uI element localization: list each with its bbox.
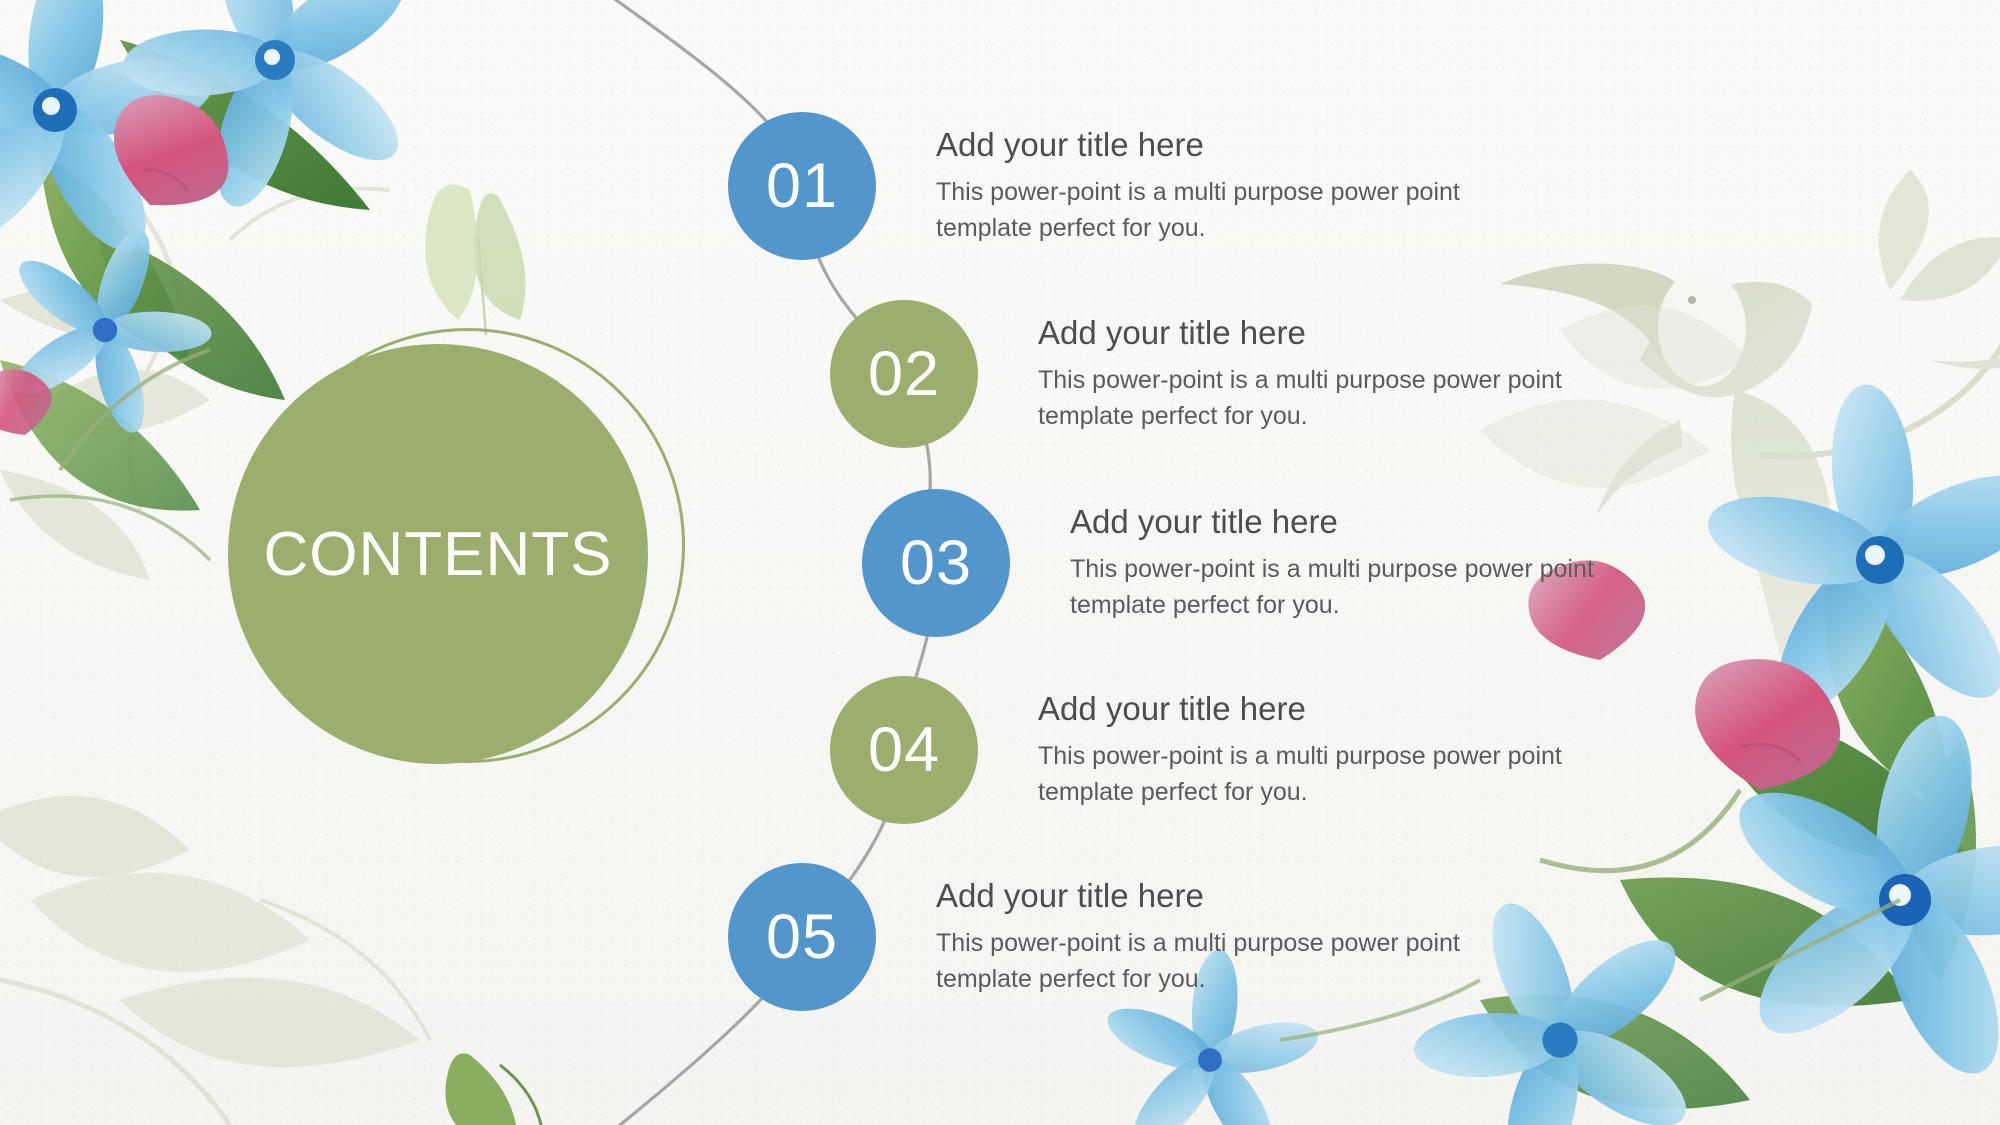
item-number-04: 04 — [868, 719, 940, 782]
contents-center-badge: CONTENTS — [228, 320, 688, 780]
item-desc-02: This power-point is a multi purpose powe… — [1038, 363, 1562, 434]
item-title-04: Add your title here — [1038, 688, 1562, 729]
item-title-01: Add your title here — [936, 124, 1460, 165]
item-number-01: 01 — [766, 155, 838, 218]
content-item-03[interactable]: 03 Add your title here This power-point … — [862, 489, 1594, 637]
slide-canvas: CONTENTS 01 Add your title here This pow… — [0, 0, 2000, 1125]
content-item-01[interactable]: 01 Add your title here This power-point … — [728, 112, 1460, 260]
item-desc-01: This power-point is a multi purpose powe… — [936, 175, 1460, 246]
item-title-03: Add your title here — [1070, 501, 1594, 542]
item-number-badge-04[interactable]: 04 — [830, 676, 978, 824]
item-number-badge-01[interactable]: 01 — [728, 112, 876, 260]
item-desc-03: This power-point is a multi purpose powe… — [1070, 552, 1594, 623]
item-number-02: 02 — [868, 343, 940, 406]
item-desc-05: This power-point is a multi purpose powe… — [936, 926, 1460, 997]
contents-disc: CONTENTS — [228, 344, 648, 764]
item-number-05: 05 — [766, 906, 838, 969]
content-item-02[interactable]: 02 Add your title here This power-point … — [830, 300, 1562, 448]
item-number-badge-05[interactable]: 05 — [728, 863, 876, 1011]
contents-label: CONTENTS — [264, 519, 613, 590]
item-number-badge-02[interactable]: 02 — [830, 300, 978, 448]
item-number-03: 03 — [900, 532, 972, 595]
item-desc-04: This power-point is a multi purpose powe… — [1038, 739, 1562, 810]
content-item-05[interactable]: 05 Add your title here This power-point … — [728, 863, 1460, 1011]
item-title-05: Add your title here — [936, 875, 1460, 916]
item-title-02: Add your title here — [1038, 312, 1562, 353]
item-number-badge-03[interactable]: 03 — [862, 489, 1010, 637]
content-item-04[interactable]: 04 Add your title here This power-point … — [830, 676, 1562, 824]
